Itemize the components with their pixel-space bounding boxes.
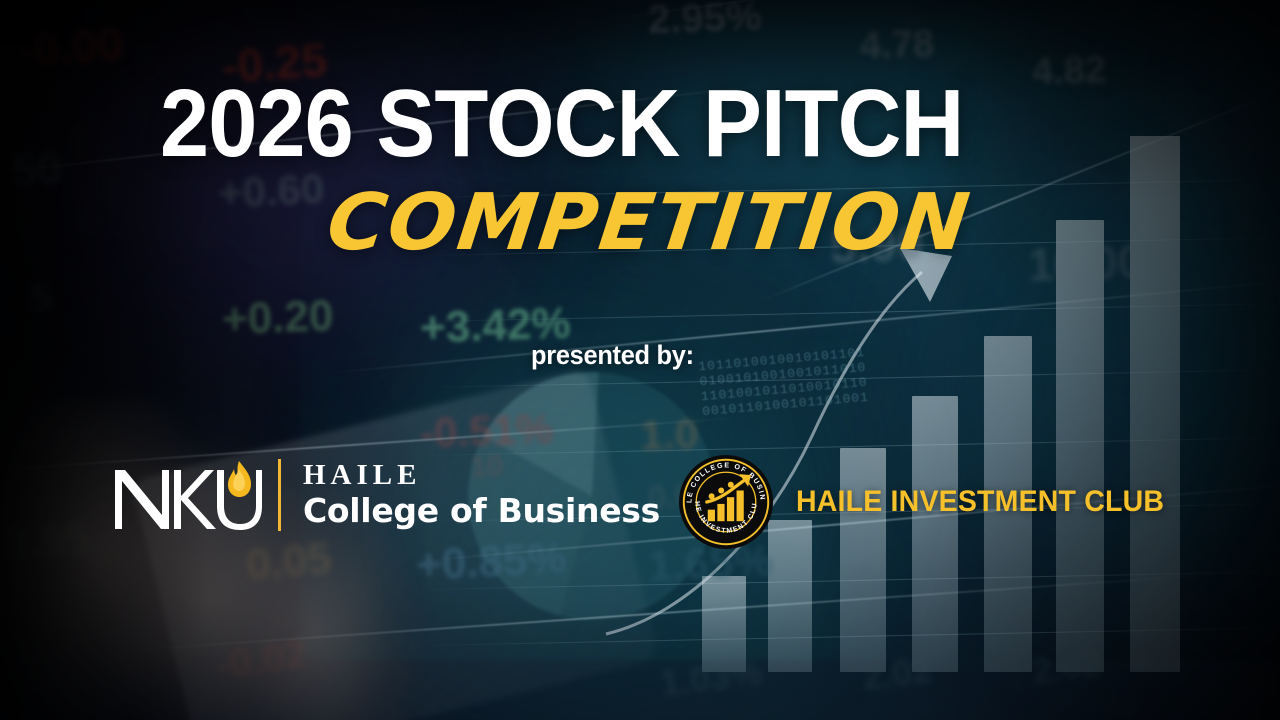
haile-label: HAILE [303, 460, 660, 490]
investment-club-badge-icon: HAILE COLLEGE OF BUSINESS THE INVESTMENT… [678, 454, 774, 550]
poster-content: 2026 STOCK PITCH COMPETITION presented b… [0, 0, 1280, 720]
nku-wordmark-icon [112, 457, 264, 533]
haile-investment-club-logo: HAILE COLLEGE OF BUSINESS THE INVESTMENT… [678, 454, 1184, 550]
presented-by-label: presented by: [531, 340, 694, 371]
page-title: 2026 STOCK PITCH [160, 76, 963, 172]
poster-canvas: 1011010010010101101 0100101001001011010 … [0, 0, 1280, 720]
college-of-business-label: College of Business [303, 492, 660, 530]
nku-haile-logo: HAILE College of Business [112, 452, 660, 538]
logo-divider [278, 459, 281, 531]
investment-club-name: HAILE INVESTMENT CLUB [796, 485, 1164, 519]
page-subtitle: COMPETITION [323, 184, 975, 262]
nku-logo-text: HAILE College of Business [303, 460, 660, 530]
